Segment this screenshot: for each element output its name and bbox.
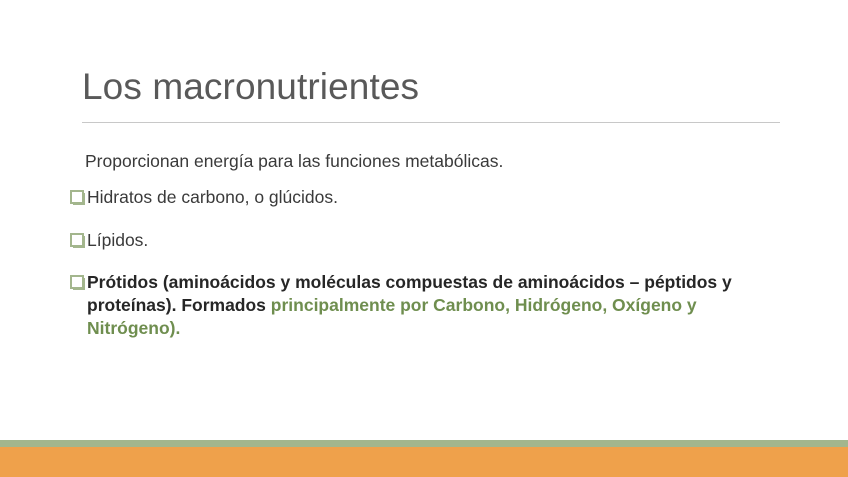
footer-band-green: [0, 440, 848, 447]
list-item-label: Lípidos.: [87, 229, 785, 252]
slide-body: Proporcionan energía para las funciones …: [70, 150, 785, 360]
list-item: Prótidos (aminoácidos y moléculas compue…: [70, 271, 785, 339]
slide: Los macronutrientes Proporcionan energía…: [0, 0, 848, 477]
list-item-label: Hidratos de carbono, o glúcidos.: [87, 186, 785, 209]
list-item: Lípidos.: [70, 229, 785, 252]
list-item: Hidratos de carbono, o glúcidos.: [70, 186, 785, 209]
ballot-box-icon: [70, 233, 86, 249]
ballot-box-icon: [70, 275, 86, 291]
footer-band-orange: [0, 447, 848, 477]
page-title: Los macronutrientes: [82, 66, 782, 109]
list-item-label: Prótidos (aminoácidos y moléculas compue…: [87, 271, 785, 339]
ballot-box-icon: [70, 190, 86, 206]
lead-paragraph: Proporcionan energía para las funciones …: [70, 150, 785, 173]
title-underline-rule: [82, 122, 780, 123]
